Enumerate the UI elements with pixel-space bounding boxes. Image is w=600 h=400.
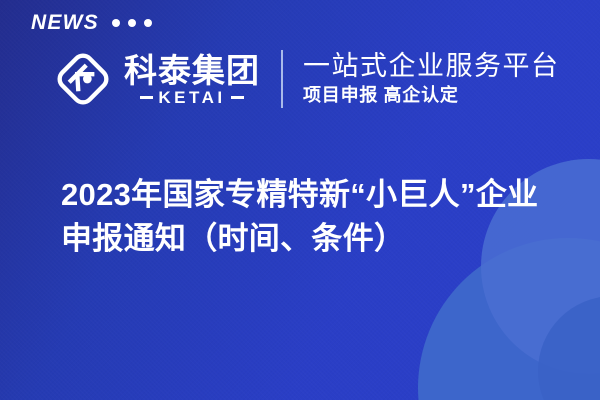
brand-name-en: KETAI <box>158 89 225 106</box>
brand-row: 科泰集团 KETAI 一站式企业服务平台 项目申报 高企认定 <box>52 42 570 116</box>
brand-name-en-row: KETAI <box>124 89 260 106</box>
brand-divider <box>281 50 283 108</box>
news-kicker: NEWS <box>31 12 152 33</box>
decorative-circle-large <box>418 238 600 400</box>
brand-name-cn: 科泰集团 <box>124 54 260 89</box>
brand-rule-left <box>140 96 153 99</box>
news-dot-icon <box>144 19 152 27</box>
headline-title: 2023年国家专精特新“小巨人”企业申报通知（时间、条件） <box>61 173 561 261</box>
news-dot-icon <box>112 19 120 27</box>
brand-lockup: 科泰集团 KETAI <box>52 48 260 110</box>
ketai-diamond-monogram-icon <box>52 48 114 110</box>
tagline-sub: 项目申报 高企认定 <box>303 84 560 107</box>
news-banner: NEWS 科泰集团 <box>0 0 600 400</box>
news-label: NEWS <box>31 12 99 33</box>
tagline-block: 一站式企业服务平台 项目申报 高企认定 <box>303 51 560 107</box>
brand-rule-right <box>231 96 244 99</box>
brand-names: 科泰集团 KETAI <box>124 54 260 107</box>
decorative-circle-small <box>538 296 600 400</box>
news-dots <box>112 19 152 27</box>
tagline-main: 一站式企业服务平台 <box>303 51 560 81</box>
news-dot-icon <box>128 19 136 27</box>
